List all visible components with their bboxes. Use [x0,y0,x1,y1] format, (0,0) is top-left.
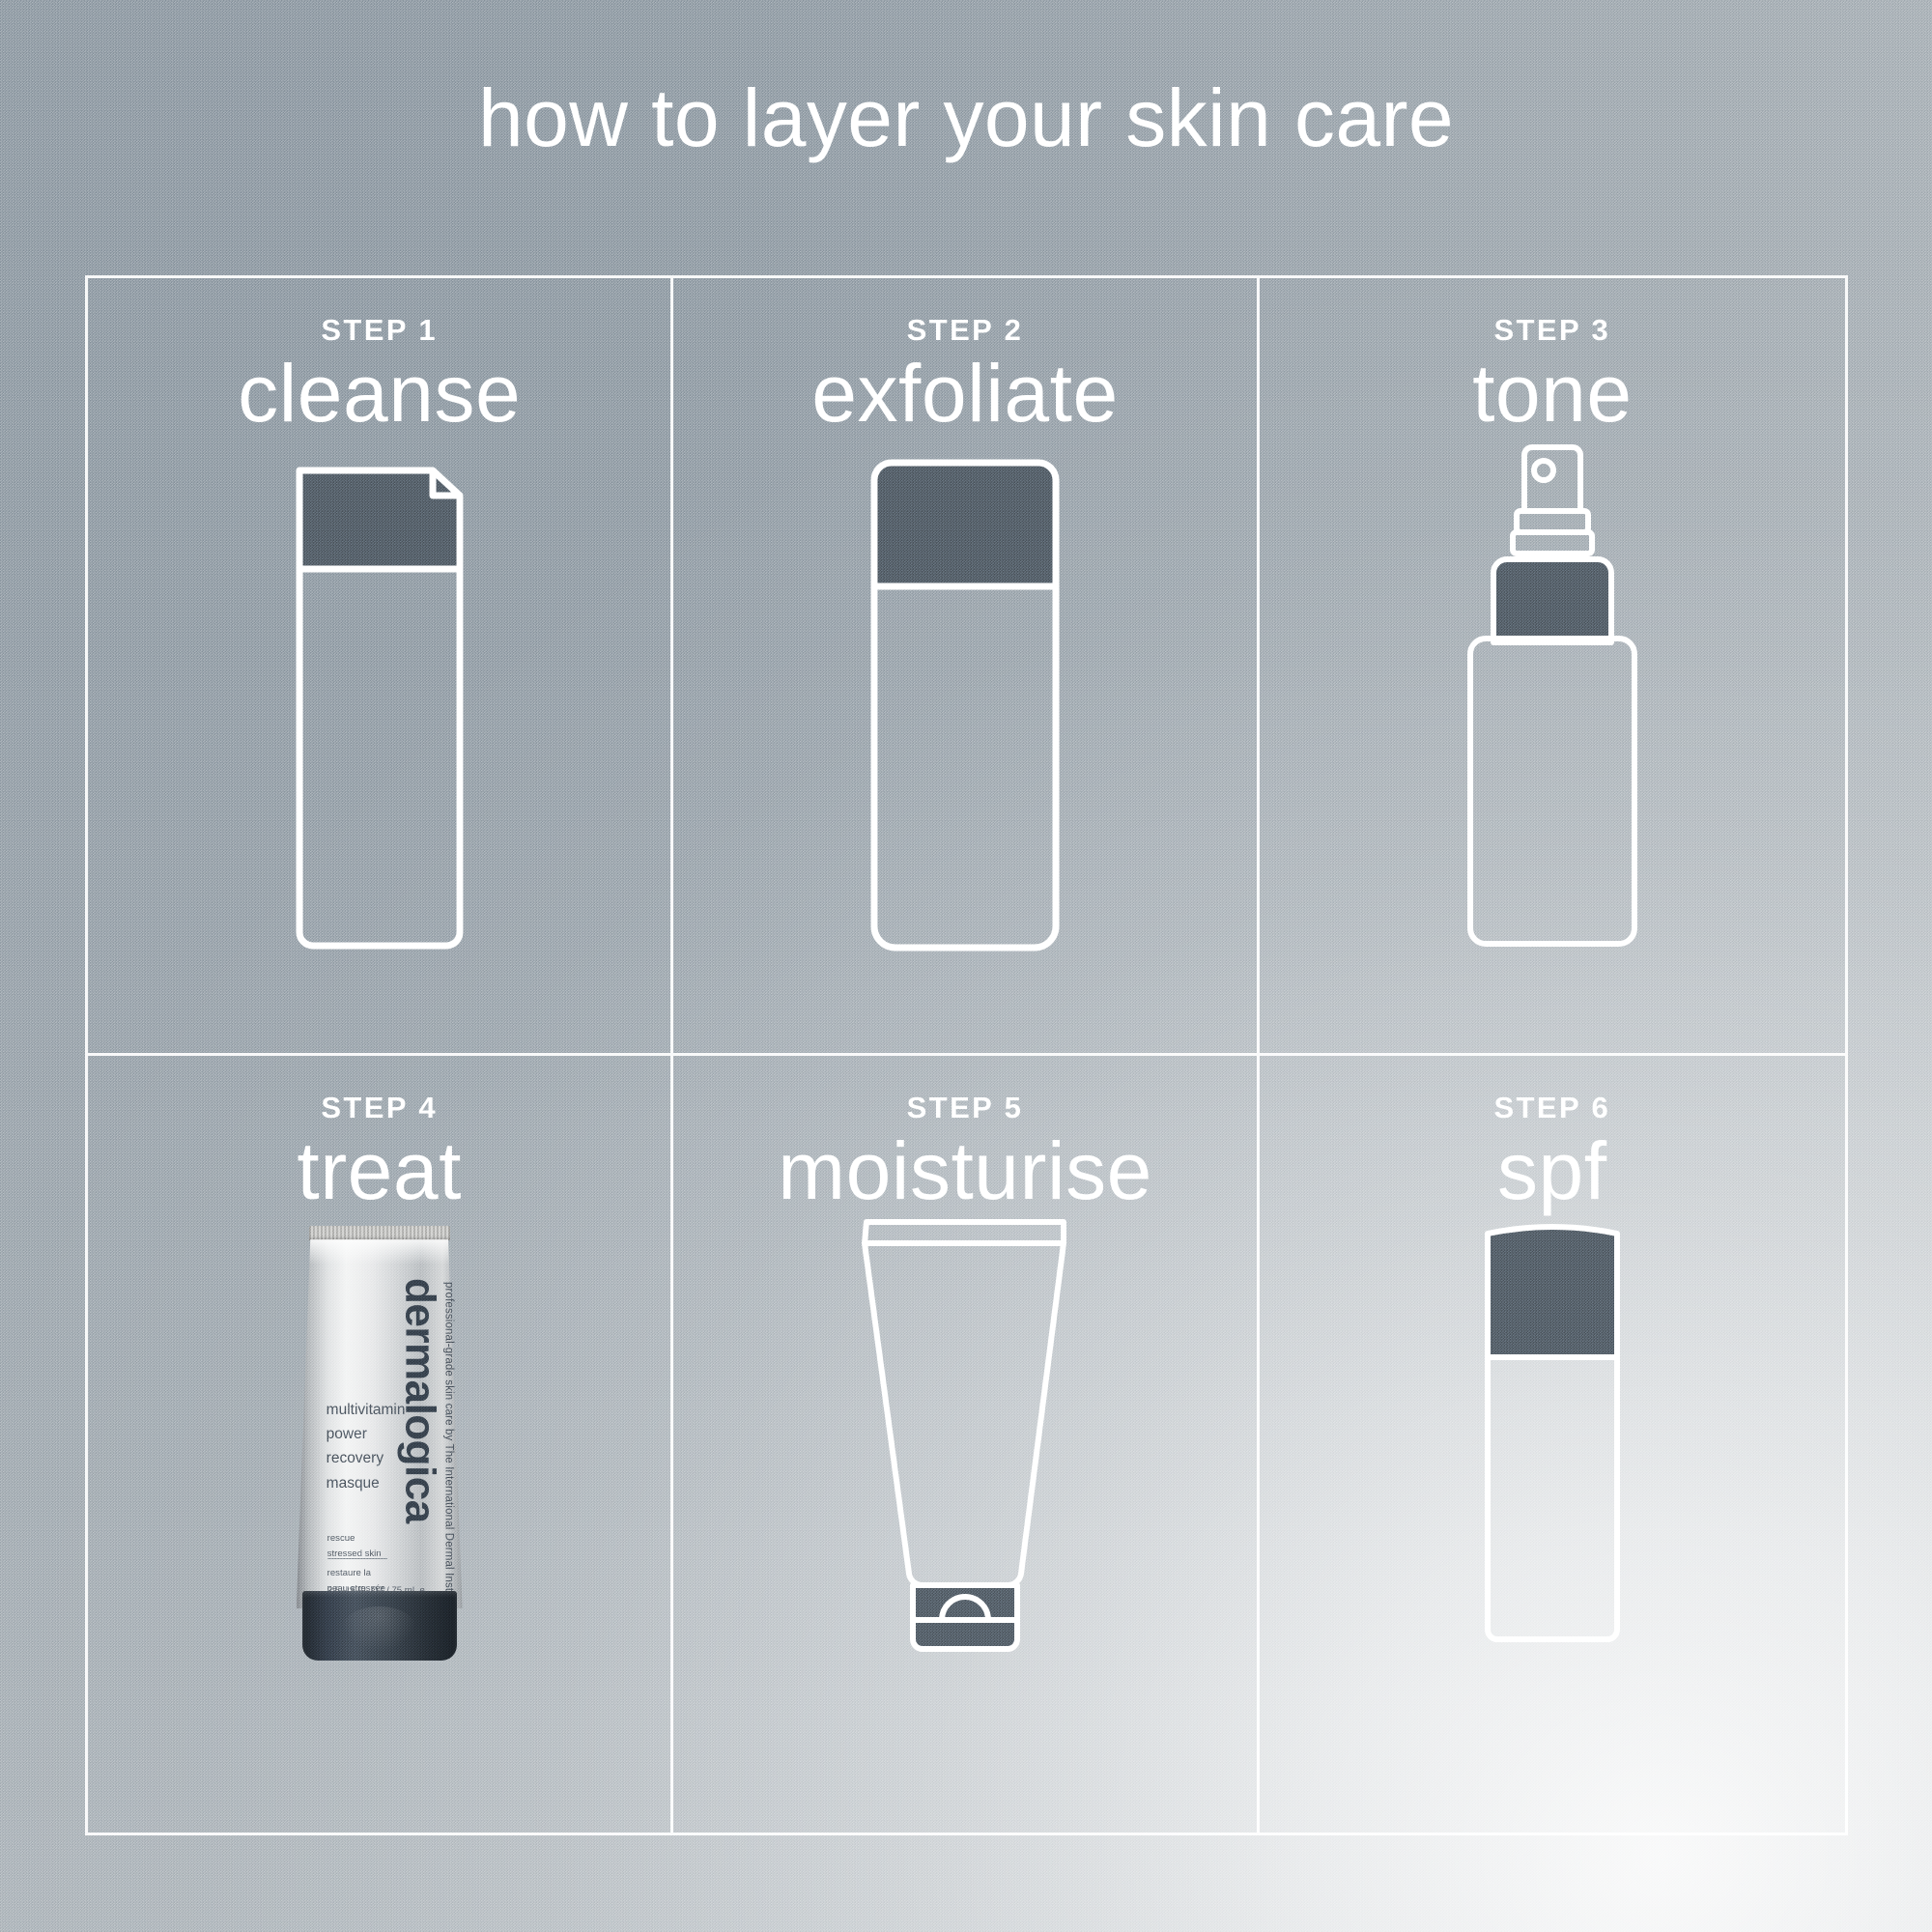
claim-line-3: restaure la [327,1566,385,1581]
step-kicker-2: STEP 2 [907,313,1024,348]
cleanser-bottle-icon [288,438,471,979]
step-art-6 [1260,1214,1845,1833]
product-name-line-1: multivitamin [327,1398,406,1422]
steps-grid: STEP 1 cleanse STEP 2 exfoliate [85,275,1848,1835]
product-divider [327,1558,387,1559]
tube-cap [302,1591,457,1661]
step-title-4: treat [297,1127,462,1215]
moisturiser-tube-icon [849,1214,1081,1668]
step-title-5: moisturise [778,1127,1152,1215]
step-kicker-1: STEP 1 [321,313,438,348]
step-art-4: dermalogica professional-grade skin care… [88,1214,670,1833]
step-card-1[interactable]: STEP 1 cleanse [88,278,673,1056]
product-name-line-2: power [327,1422,406,1446]
step-kicker-3: STEP 3 [1493,313,1610,348]
tube-crimp [309,1226,450,1240]
toner-spray-bottle-icon [1451,438,1654,979]
step-card-4[interactable]: STEP 4 treat dermalogica professional-gr… [88,1056,673,1833]
page-title: how to layer your skin care [0,75,1932,160]
product-tagline: professional-grade skin care by The Inte… [443,1282,455,1613]
step-card-2[interactable]: STEP 2 exfoliate [673,278,1259,1056]
step-art-1 [88,438,670,1053]
step-kicker-6: STEP 6 [1493,1091,1610,1125]
step-card-6[interactable]: STEP 6 spf [1260,1056,1845,1833]
step-art-5 [673,1214,1256,1833]
step-art-2 [673,438,1256,1053]
step-card-3[interactable]: STEP 3 tone [1260,278,1845,1056]
step-title-1: cleanse [238,350,521,438]
infographic-canvas: how to layer your skin care STEP 1 clean… [0,0,1932,1932]
exfoliant-bottle-icon [868,438,1062,979]
step-art-3 [1260,438,1845,1053]
step-kicker-5: STEP 5 [907,1091,1024,1125]
step-card-5[interactable]: STEP 5 moisturise [673,1056,1259,1833]
step-title-3: tone [1472,350,1633,438]
product-claims: rescue stressed skin [327,1531,382,1561]
product-name-line-3: recovery [327,1446,406,1470]
spf-bottle-icon [1480,1214,1625,1678]
step-kicker-4: STEP 4 [321,1091,438,1125]
step-title-2: exfoliate [811,350,1118,438]
masque-tube-photo: dermalogica professional-grade skin care… [297,1226,463,1661]
step-title-6: spf [1497,1127,1607,1215]
product-name: multivitamin power recovery masque [327,1398,406,1494]
claim-line-1: rescue [327,1531,382,1547]
product-name-line-4: masque [327,1471,406,1495]
